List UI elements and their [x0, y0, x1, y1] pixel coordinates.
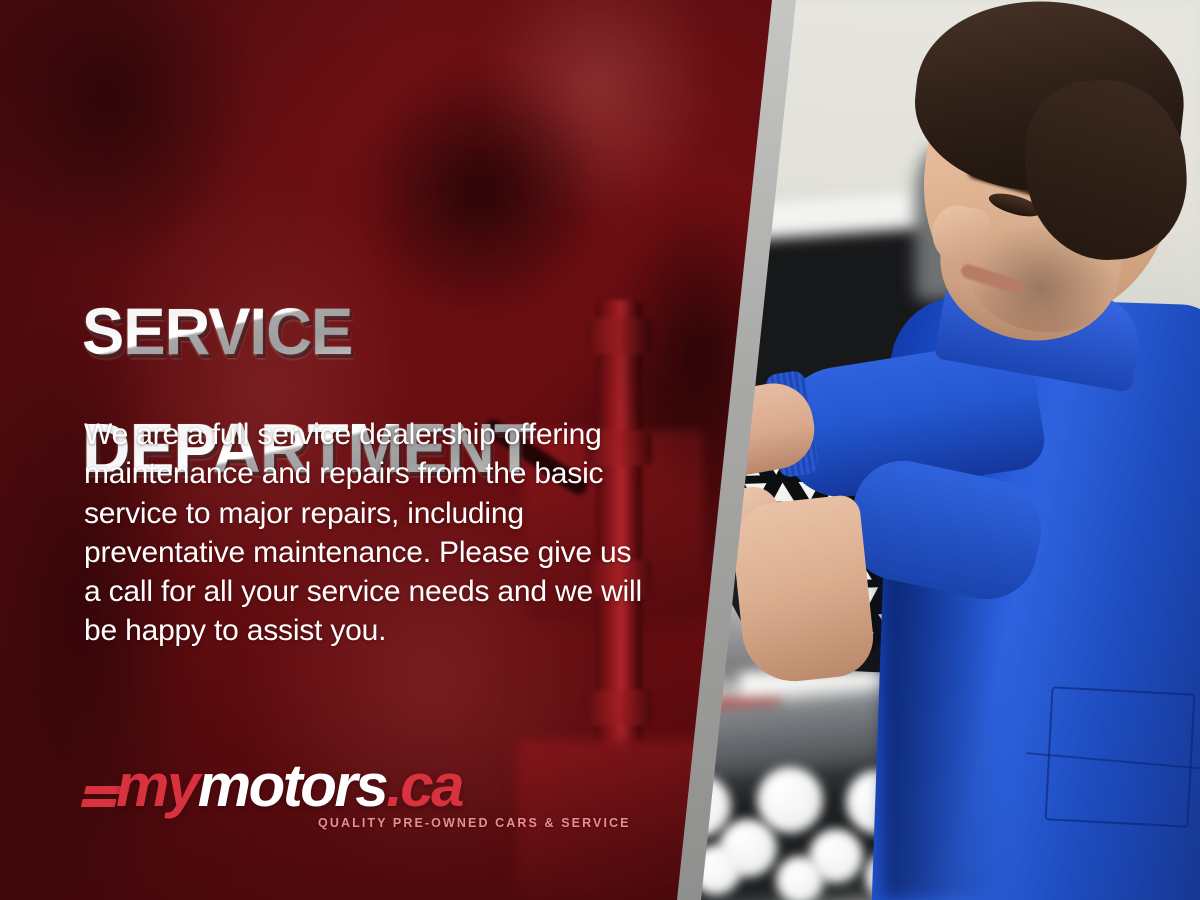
mechanic-hand [729, 494, 877, 687]
mechanic-figure [790, 0, 1200, 900]
body-copy: We are a full service dealership offerin… [84, 415, 644, 651]
service-department-banner: SERVICE DEPARTMENT We are a full service… [0, 0, 1200, 900]
logo-tagline: QUALITY PRE-OWNED CARS & SERVICE [318, 816, 631, 830]
headline-line-1: SERVICE [82, 301, 534, 362]
bokeh-sphere [691, 845, 741, 895]
logo-text-dot: . [386, 752, 400, 819]
panel-content: SERVICE DEPARTMENT We are a full service… [82, 0, 682, 900]
logo-wordmark: mymotors.ca [116, 756, 462, 816]
headline-line-1-text: SERVICE [82, 294, 352, 368]
logo-text-my: my [116, 752, 198, 819]
logo-text-ca: ca [400, 752, 462, 819]
logo-text-motors: motors [198, 752, 386, 819]
mymotors-logo[interactable]: mymotors.ca QUALITY PRE-OWNED CARS & SER… [82, 762, 552, 842]
